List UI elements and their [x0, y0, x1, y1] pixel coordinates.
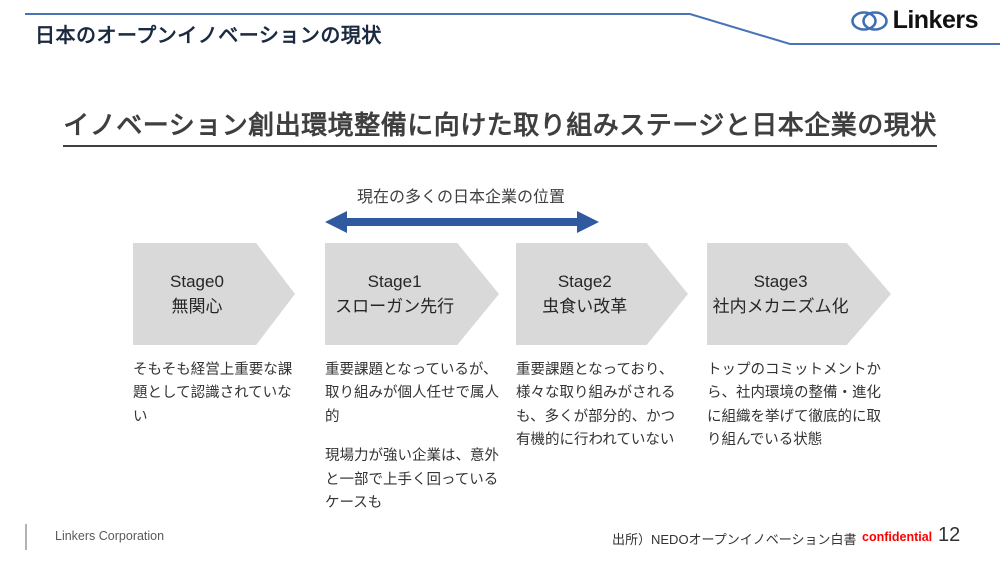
slide: 日本のオープンイノベーションの現状 Linkers イノベーション創出環境整備に…	[0, 0, 1000, 563]
chevron-label-group: Stage2 虫食い改革	[516, 243, 654, 345]
slide-header: 日本のオープンイノベーションの現状 Linkers	[0, 0, 1000, 56]
stage-chevron-1: Stage1 スローガン先行	[325, 243, 499, 345]
stage-subtitle: 社内メカニズム化	[713, 294, 849, 320]
footer-source-citation: 出所）NEDOオープンイノベーション白書	[612, 529, 857, 548]
stage-name: Stage0	[170, 269, 224, 295]
main-heading: イノベーション創出環境整備に向けた取り組みステージと日本企業の現状	[0, 105, 1000, 142]
chevron-label-group: Stage3 社内メカニズム化	[707, 243, 854, 345]
stage-description-0: そもそも経営上重要な課題として認識されていない	[133, 359, 305, 429]
stage-chevron-0: Stage0 無関心	[133, 243, 295, 345]
brand-logo-text: Linkers	[893, 8, 978, 33]
stage-description-paragraph: 重要課題となっており、様々な取り組みがされるも、多くが部分的、かつ有機的に行われ…	[516, 359, 688, 453]
stage-subtitle: スローガン先行	[335, 294, 454, 320]
current-position-label: 現在の多くの日本企業の位置	[325, 183, 597, 207]
footer-company-name: Linkers Corporation	[55, 529, 164, 543]
interlocking-rings-icon	[850, 9, 890, 33]
stage-chevron-2: Stage2 虫食い改革	[516, 243, 688, 345]
footer-divider	[25, 524, 27, 550]
chevron-label-group: Stage0 無関心	[133, 243, 261, 345]
stage-description-2: 重要課題となっており、様々な取り組みがされるも、多くが部分的、かつ有機的に行われ…	[516, 359, 688, 453]
confidential-badge: confidential	[862, 530, 932, 544]
stage-name: Stage1	[368, 269, 422, 295]
stage-subtitle: 無関心	[171, 294, 222, 320]
stage-description-paragraph: 重要課題となっているが、取り組みが個人任せで属人的	[325, 359, 503, 429]
stage-description-1: 重要課題となっているが、取り組みが個人任せで属人的 現場力が強い企業は、意外と一…	[325, 359, 503, 516]
stage-chevron-3: Stage3 社内メカニズム化	[707, 243, 891, 345]
double-headed-arrow-icon	[322, 208, 602, 236]
stage-description-paragraph: そもそも経営上重要な課題として認識されていない	[133, 359, 305, 429]
stage-description-paragraph: 現場力が強い企業は、意外と一部で上手く回っているケースも	[325, 445, 503, 515]
stage-name: Stage3	[754, 269, 808, 295]
page-title: 日本のオープンイノベーションの現状	[35, 19, 382, 48]
main-heading-text: イノベーション創出環境整備に向けた取り組みステージと日本企業の現状	[63, 110, 936, 147]
brand-logo: Linkers	[850, 8, 978, 33]
double-arrow-wrapper	[322, 208, 602, 236]
page-number: 12	[938, 524, 960, 547]
chevron-label-group: Stage1 スローガン先行	[325, 243, 464, 345]
stage-description-paragraph: トップのコミットメントから、社内環境の整備・進化に組織を挙げて徹底的に取り組んで…	[707, 359, 887, 453]
stage-name: Stage2	[558, 269, 612, 295]
stage-description-3: トップのコミットメントから、社内環境の整備・進化に組織を挙げて徹底的に取り組んで…	[707, 359, 887, 453]
stage-subtitle: 虫食い改革	[542, 294, 627, 320]
